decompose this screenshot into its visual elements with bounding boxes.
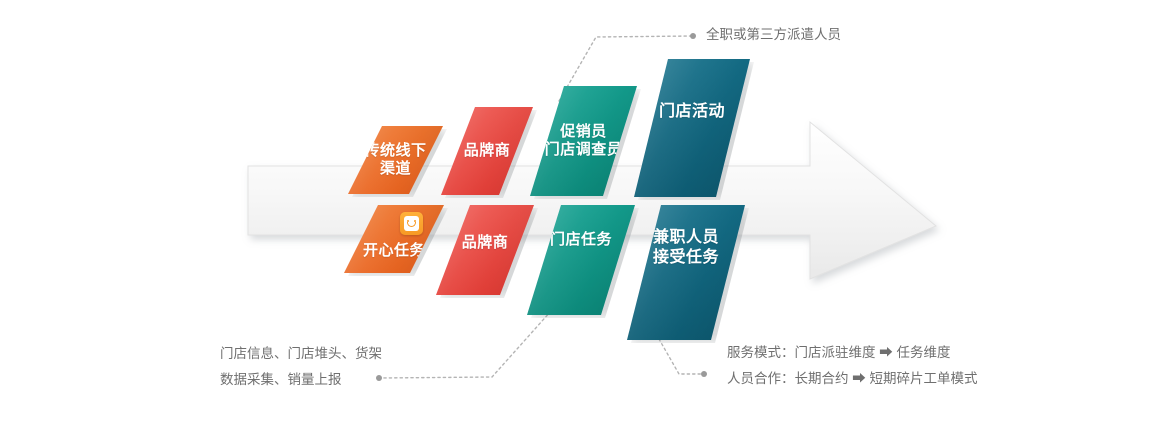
block-label: 兼职人员 接受任务: [653, 228, 719, 267]
annotation-line: 全职或第三方派遣人员: [706, 22, 841, 48]
annotation-line: 数据采集、销量上报: [220, 367, 382, 393]
annotation-service-model-note: 服务模式：门店派驻维度 ➡ 任务维度 人员合作：长期合约 ➡ 短期碎片工单模式: [727, 340, 978, 392]
diagram-canvas: 传统线下 渠道 品牌商 促销员 门店调查员 门店活动 开心任务: [0, 0, 1150, 430]
annotation-dot-staffing: [690, 33, 696, 39]
block-happy-task[interactable]: 开心任务: [344, 205, 444, 273]
smiley-mouth: [407, 222, 416, 227]
block-brand-owner-top[interactable]: 品牌商: [441, 107, 533, 195]
block-label: 促销员 门店调查员: [545, 123, 623, 160]
annotation-line: 服务模式：门店派驻维度 ➡ 任务维度: [727, 340, 978, 366]
block-label: 开心任务: [363, 242, 425, 260]
block-sheen: [627, 205, 745, 340]
annotation-line: 门店信息、门店堆头、货架: [220, 341, 382, 367]
block-sheen: [527, 205, 635, 315]
annotation-line: 人员合作：长期合约 ➡ 短期碎片工单模式: [727, 366, 978, 392]
block-label: 品牌商: [462, 234, 509, 252]
block-brand-owner-bottom[interactable]: 品牌商: [436, 205, 534, 295]
smiley-app-icon: [400, 212, 423, 235]
block-store-activity[interactable]: 门店活动: [634, 59, 750, 197]
block-label: 门店活动: [659, 102, 725, 122]
block-promoter-surveyor[interactable]: 促销员 门店调查员: [530, 86, 637, 196]
block-label: 门店任务: [550, 231, 612, 249]
block-store-task[interactable]: 门店任务: [527, 205, 635, 315]
block-label: 传统线下 渠道: [364, 142, 426, 179]
block-sheen: [344, 205, 444, 273]
annotation-staffing-note: 全职或第三方派遣人员: [706, 22, 841, 48]
block-label: 品牌商: [464, 142, 511, 160]
block-sheen: [634, 59, 750, 197]
smiley-face-icon: [404, 216, 419, 231]
block-parttime-accept-task[interactable]: 兼职人员 接受任务: [627, 205, 745, 340]
block-traditional-channel[interactable]: 传统线下 渠道: [348, 126, 443, 194]
annotation-data-collection-note: 门店信息、门店堆头、货架 数据采集、销量上报: [220, 341, 382, 393]
annotation-dot-service-model: [701, 371, 707, 377]
